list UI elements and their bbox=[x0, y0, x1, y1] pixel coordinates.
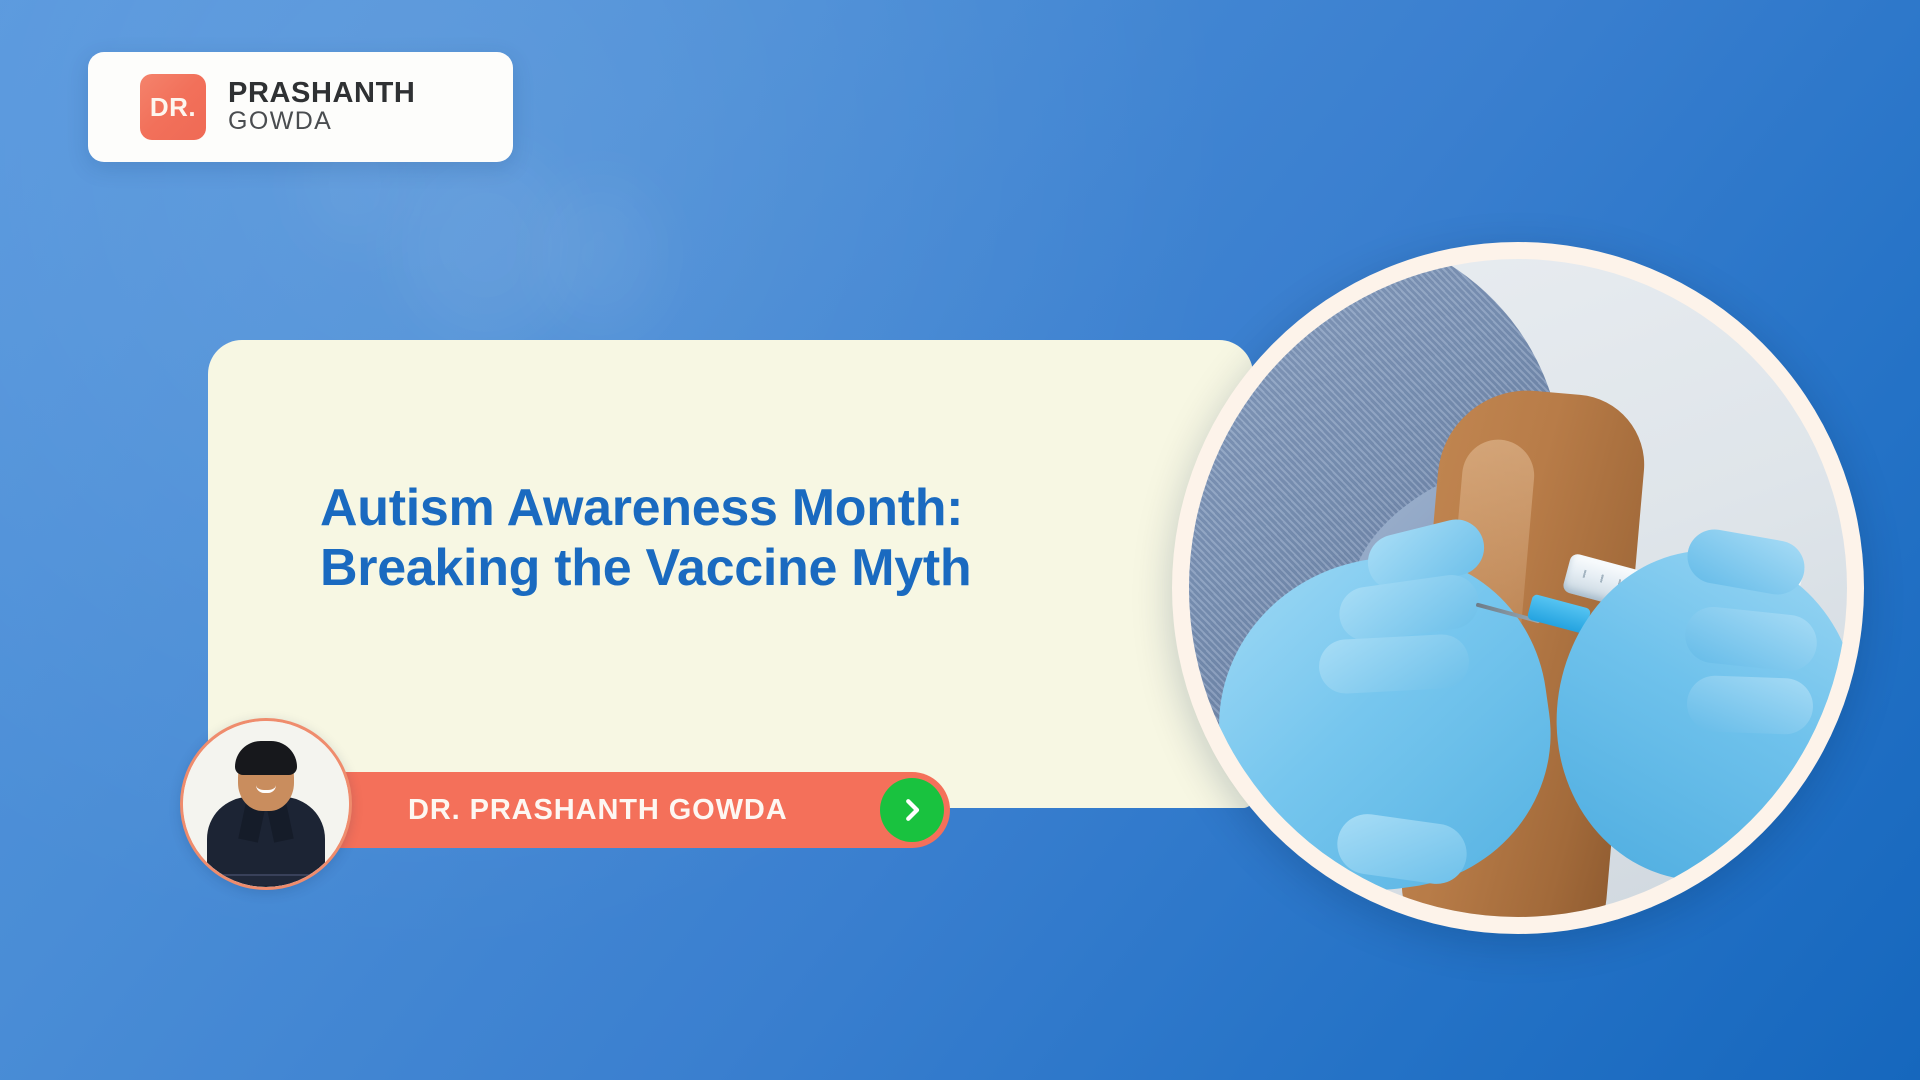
logo-mark-icon: DR. bbox=[140, 74, 206, 140]
brand-name-line1: PRASHANTH bbox=[228, 79, 415, 109]
avatar-hair bbox=[235, 741, 297, 775]
avatar bbox=[180, 718, 352, 890]
background-blob bbox=[400, 150, 570, 340]
chevron-right-icon[interactable] bbox=[880, 778, 944, 842]
presenter-name-label: DR. PRASHANTH GOWDA bbox=[408, 794, 788, 827]
avatar-portrait bbox=[183, 721, 349, 887]
hero-photo-frame bbox=[1172, 242, 1864, 934]
avatar-belt bbox=[220, 874, 312, 885]
banner-root: DR. PRASHANTH GOWDA Autism Awareness Mon… bbox=[0, 0, 1920, 1080]
brand-name: PRASHANTH GOWDA bbox=[228, 79, 415, 134]
brand-logo-badge[interactable]: DR. PRASHANTH GOWDA bbox=[88, 52, 513, 162]
page-title: Autism Awareness Month: Breaking the Vac… bbox=[320, 478, 1040, 599]
photo-glove-finger bbox=[1318, 633, 1471, 695]
presenter-cta-bar[interactable]: DR. PRASHANTH GOWDA bbox=[290, 772, 950, 848]
background-blob bbox=[540, 180, 660, 330]
photo-glove-finger bbox=[1686, 675, 1814, 735]
logo-mark-text: DR. bbox=[150, 94, 196, 120]
brand-name-line2: GOWDA bbox=[228, 109, 415, 135]
hero-photo-vaccination bbox=[1189, 259, 1847, 917]
